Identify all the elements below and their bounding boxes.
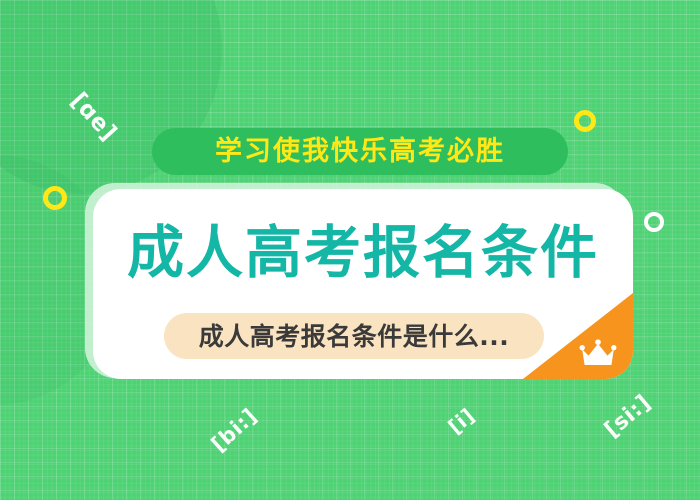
subtitle-pill: 成人高考报名条件是什么... [164,313,544,359]
ring-yellow-left-icon [43,186,67,210]
main-card: 成人高考报名条件 成人高考报名条件是什么... [93,189,633,379]
poster-canvas: [ɑe] [bi:] [i] [si:] 学习使我快乐高考必胜 成人高考报名条件… [0,0,700,500]
page-title: 成人高考报名条件 [93,225,633,282]
ring-white-right-icon [644,212,664,232]
ring-yellow-right-icon [574,110,596,132]
crown-icon [579,339,617,369]
slogan-banner: 学习使我快乐高考必胜 [152,128,568,175]
slogan-banner-text: 学习使我快乐高考必胜 [215,138,505,165]
subtitle-text: 成人高考报名条件是什么... [199,324,510,349]
